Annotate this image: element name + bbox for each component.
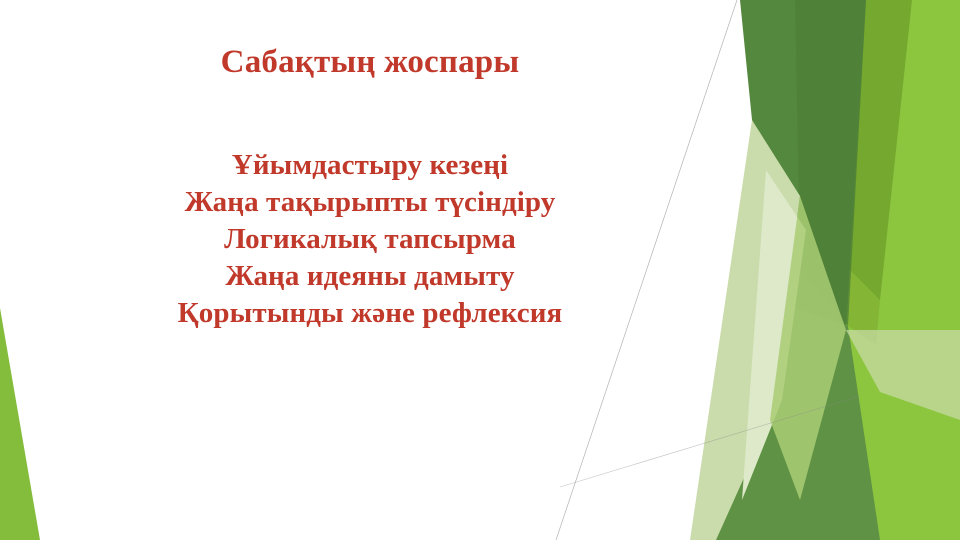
- shape-pale-bottom-triangle: [846, 330, 960, 420]
- shape-light-green-facet: [770, 196, 846, 500]
- shape-very-pale-sliver: [742, 170, 806, 500]
- shape-dark-green-main: [740, 0, 866, 330]
- body-line-1: Ұйымдастыру кезеңі: [0, 147, 740, 184]
- body-line-3: Логикалық тапсырма: [0, 221, 740, 258]
- body-line-5: Қорытынды және рефлексия: [0, 295, 740, 332]
- shape-lime-lower: [848, 326, 960, 540]
- shape-deep-green-fold: [795, 0, 866, 326]
- slide-title: Сабақтың жоспары: [0, 45, 740, 80]
- shape-right-bright-base: [735, 0, 960, 540]
- shape-grass-band: [830, 0, 912, 300]
- body-line-4: Жаңа идеяны дамыту: [0, 258, 740, 295]
- slide-text-content: Сабақтың жоспары Ұйымдастыру кезеңі Жаңа…: [0, 0, 740, 540]
- slide-body-list: Ұйымдастыру кезеңі Жаңа тақырыпты түсінд…: [0, 147, 740, 332]
- shape-right-lime-wedge: [860, 0, 960, 540]
- body-line-2: Жаңа тақырыпты түсіндіру: [0, 184, 740, 221]
- slide-canvas: Сабақтың жоспары Ұйымдастыру кезеңі Жаңа…: [0, 0, 960, 540]
